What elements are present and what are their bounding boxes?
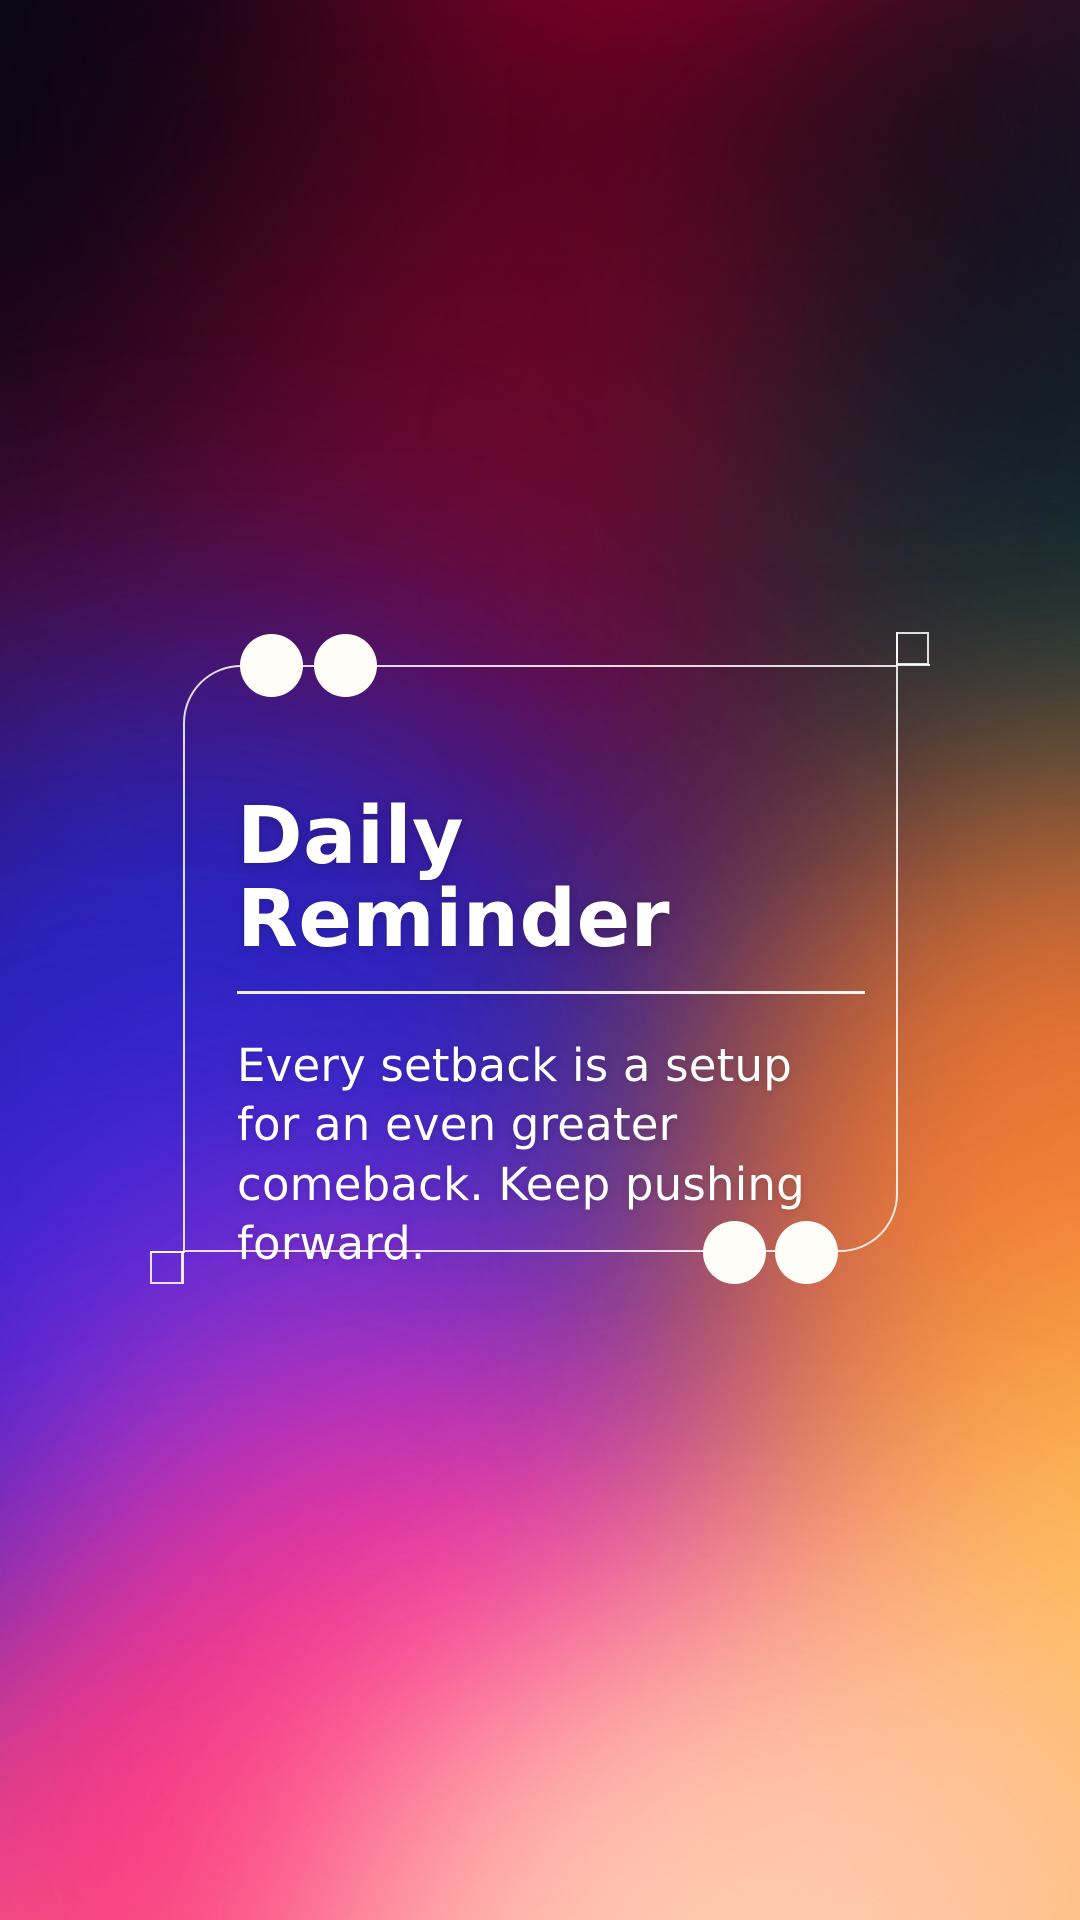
- title-divider: [237, 991, 865, 994]
- gradient-blob-peach: [420, 1560, 1080, 1920]
- quote-text: Every setback is a setup for an even gre…: [237, 1036, 837, 1274]
- gradient-blob-hot-pink: [0, 1560, 520, 1920]
- gradient-blob-dark-right: [820, 0, 1080, 500]
- card-content: Daily Reminder Every setback is a setup …: [237, 795, 877, 1273]
- gradient-blob-magenta: [120, 1400, 820, 1920]
- page-title: Daily Reminder: [237, 795, 877, 961]
- poster-canvas: Daily Reminder Every setback is a setup …: [0, 0, 1080, 1920]
- gradient-blob-dark-navy: [0, 0, 580, 540]
- gradient-blob-crimson: [300, 0, 1080, 680]
- gradient-blob-peach-secondary: [300, 1760, 1000, 1920]
- circle-decor-icon-top-left-2: [314, 634, 377, 697]
- square-decor-icon-top-right: [896, 632, 929, 665]
- square-decor-icon-bottom-left: [150, 1251, 183, 1284]
- gradient-blob-gold: [820, 1280, 1080, 1920]
- circle-decor-icon-top-left-1: [240, 634, 303, 697]
